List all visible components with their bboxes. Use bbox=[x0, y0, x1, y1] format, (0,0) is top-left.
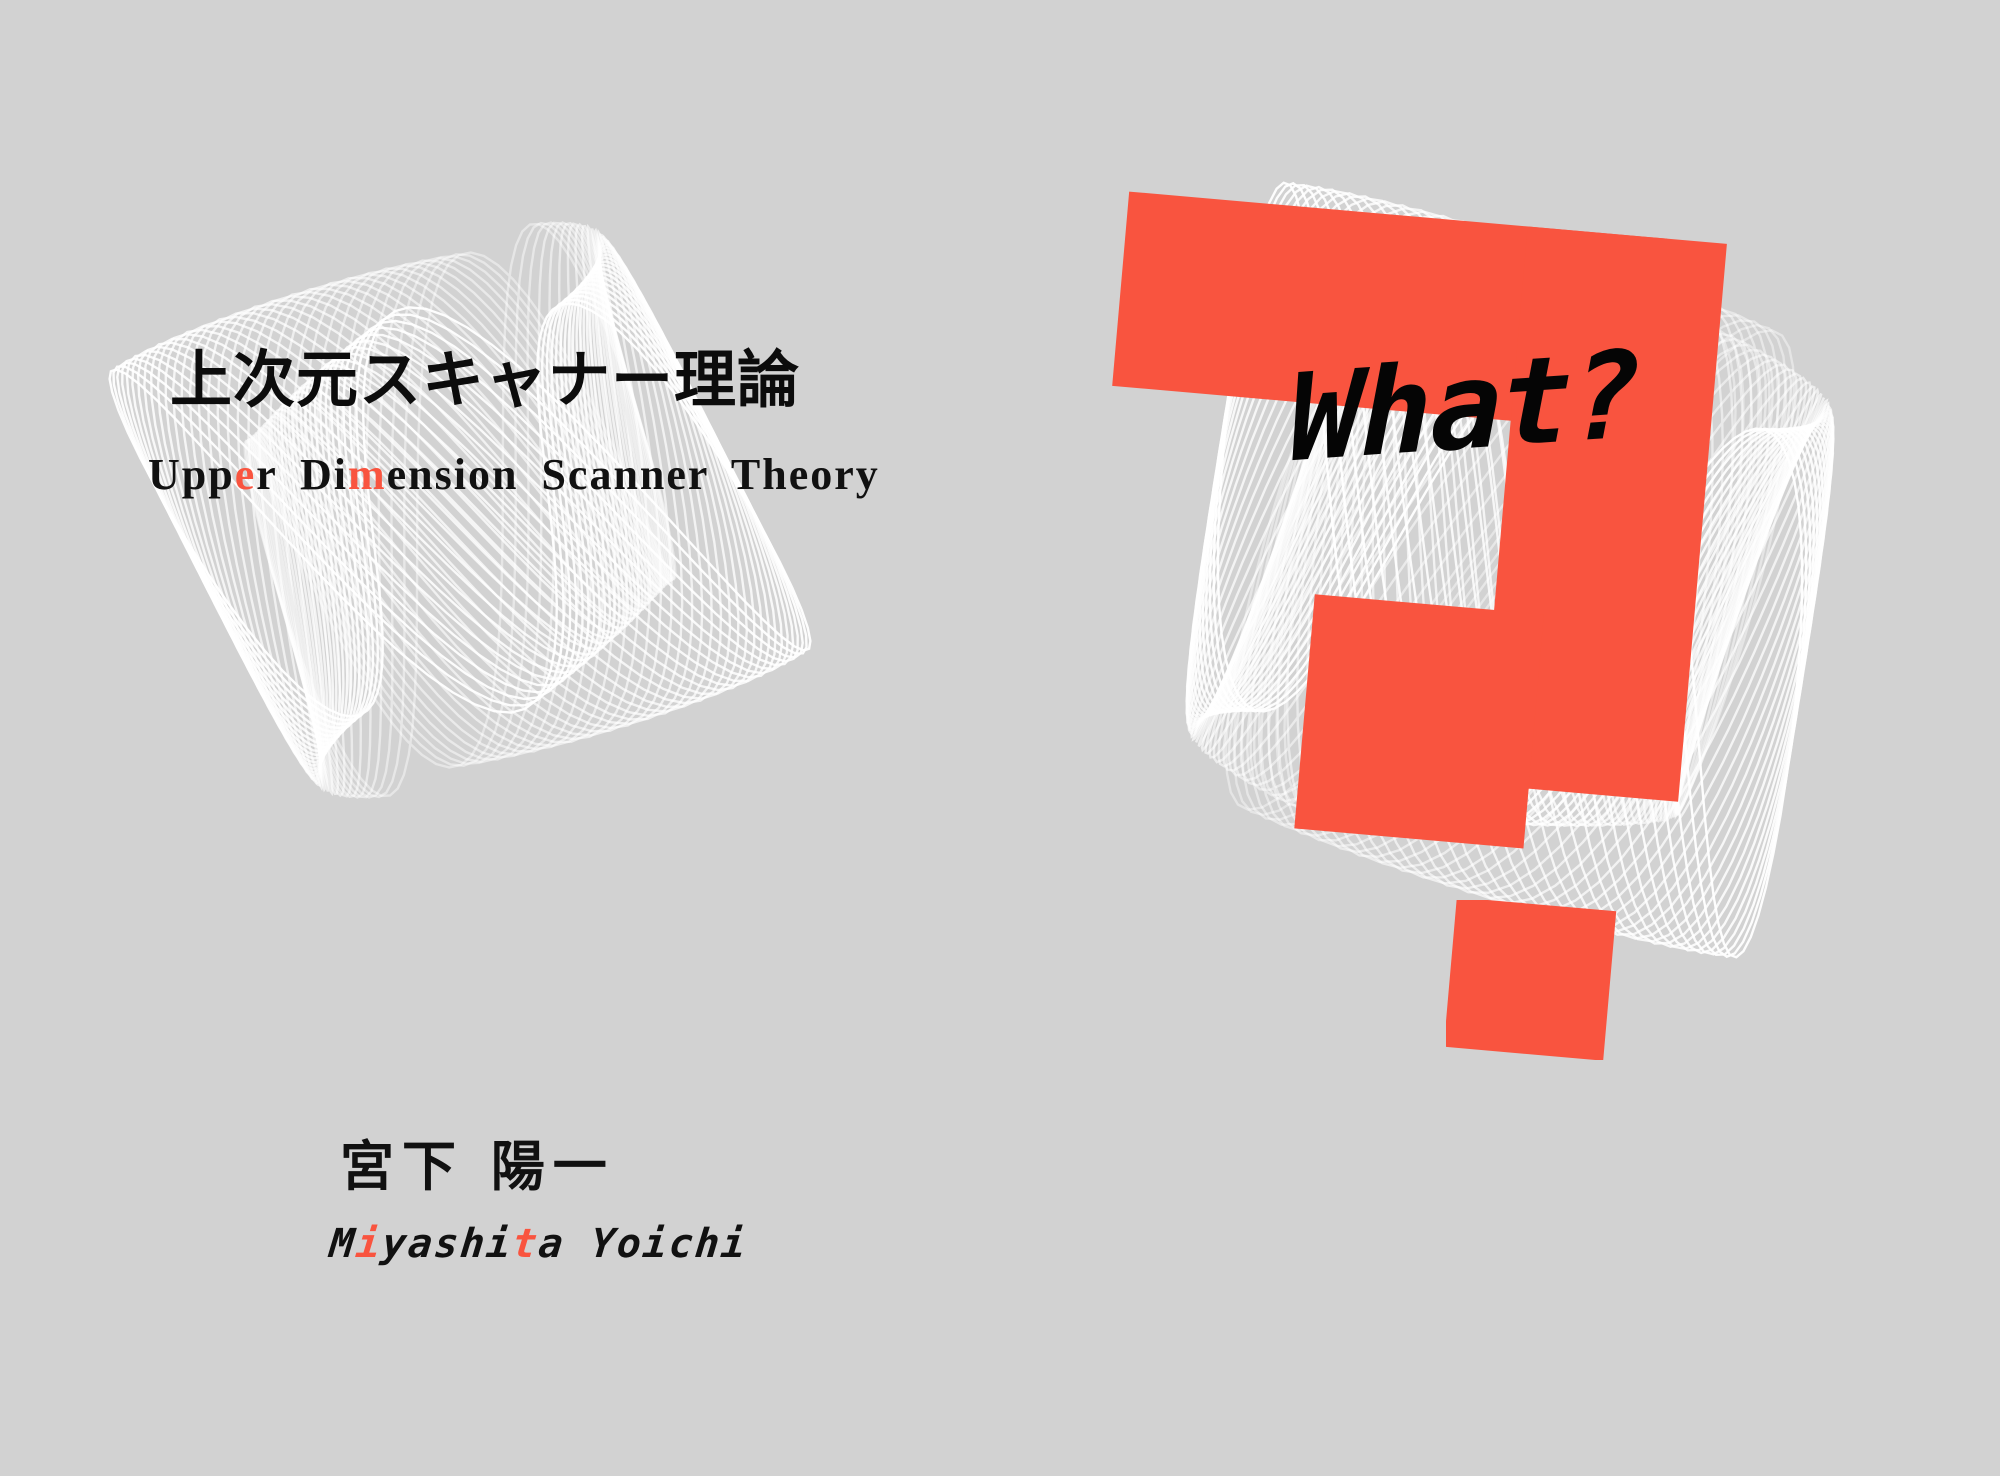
lineart-stroke bbox=[1189, 201, 1831, 938]
lineart-stroke bbox=[1214, 183, 1806, 956]
lineart-stroke bbox=[259, 227, 660, 793]
lineart-stroke bbox=[1187, 220, 1834, 921]
lineart-stroke bbox=[238, 239, 682, 781]
text-run: yashi bbox=[380, 1221, 515, 1267]
lineart-stroke bbox=[249, 237, 672, 783]
title-slide: What? 上次元スキャナー理論 Upper Dimension Scanner… bbox=[0, 0, 2000, 1476]
lineart-stroke bbox=[247, 223, 672, 798]
lineart-stroke bbox=[190, 254, 730, 765]
lineart-stroke bbox=[1191, 199, 1830, 942]
lineart-stroke bbox=[1192, 197, 1827, 944]
lineart-stroke bbox=[199, 251, 721, 768]
lineart-stroke bbox=[252, 223, 668, 797]
text-run: r Di bbox=[256, 450, 348, 499]
lineart-stroke bbox=[151, 273, 769, 748]
lineart-stroke bbox=[1188, 205, 1832, 934]
page-title: 上次元スキャナー理論 bbox=[170, 348, 930, 415]
lineart-stroke bbox=[246, 223, 674, 797]
lineart-stroke bbox=[266, 232, 654, 788]
spirograph-decoration-left bbox=[60, 130, 880, 890]
lineart-stroke bbox=[218, 245, 703, 775]
accent-letter: e bbox=[235, 450, 257, 499]
lineart-stroke bbox=[261, 229, 658, 792]
text-run: ension Scanner Theory bbox=[387, 450, 880, 499]
lineart-stroke bbox=[173, 262, 747, 759]
text-run: a Yoichi bbox=[536, 1221, 749, 1267]
lineart-stroke bbox=[1187, 224, 1832, 917]
lineart-stroke bbox=[264, 231, 656, 790]
lineart-stroke bbox=[208, 248, 711, 772]
lineart-stroke bbox=[249, 223, 671, 797]
lineart-stroke bbox=[158, 269, 762, 752]
lineart-stroke bbox=[259, 235, 661, 786]
lineart-stroke bbox=[1206, 186, 1814, 955]
page-subtitle: Upper Dimension Scanner Theory bbox=[148, 449, 930, 500]
lineart-stroke bbox=[1195, 193, 1826, 947]
lineart-stroke bbox=[255, 224, 664, 795]
lineart-stroke bbox=[1187, 208, 1833, 932]
author-name-jp: 宮下 陽一 bbox=[340, 1122, 960, 1201]
title-block: 上次元スキャナー理論 Upper Dimension Scanner Theor… bbox=[170, 348, 930, 500]
lineart-stroke bbox=[257, 226, 662, 794]
lineart-stroke bbox=[1200, 190, 1821, 951]
lineart-stroke bbox=[1188, 228, 1831, 911]
question-mark-graphic bbox=[1080, 180, 1800, 900]
text-run: Upp bbox=[148, 450, 235, 499]
lineart-stroke bbox=[245, 224, 676, 796]
lineart-stroke bbox=[228, 242, 692, 777]
lineart-stroke bbox=[1187, 212, 1834, 929]
lineart-stroke bbox=[1197, 191, 1823, 949]
lineart-stroke bbox=[182, 258, 739, 762]
accent-letter: m bbox=[348, 450, 387, 499]
lineart-stroke bbox=[250, 223, 669, 798]
lineart-stroke bbox=[1187, 216, 1834, 924]
lineart-stroke bbox=[254, 224, 667, 797]
lineart-stroke bbox=[1203, 187, 1817, 953]
author-name-en: Miyashita Yoichi bbox=[328, 1221, 963, 1267]
what-label: What? bbox=[1290, 335, 1640, 480]
spirograph-decoration-right bbox=[1060, 150, 1960, 1000]
lineart-stroke bbox=[1210, 185, 1810, 955]
lineart-stroke bbox=[166, 265, 754, 755]
question-mark-dot bbox=[1446, 900, 1626, 1060]
author-block: 宮下 陽一 Miyashita Yoichi bbox=[340, 1122, 960, 1267]
lineart-stroke bbox=[1218, 183, 1802, 958]
